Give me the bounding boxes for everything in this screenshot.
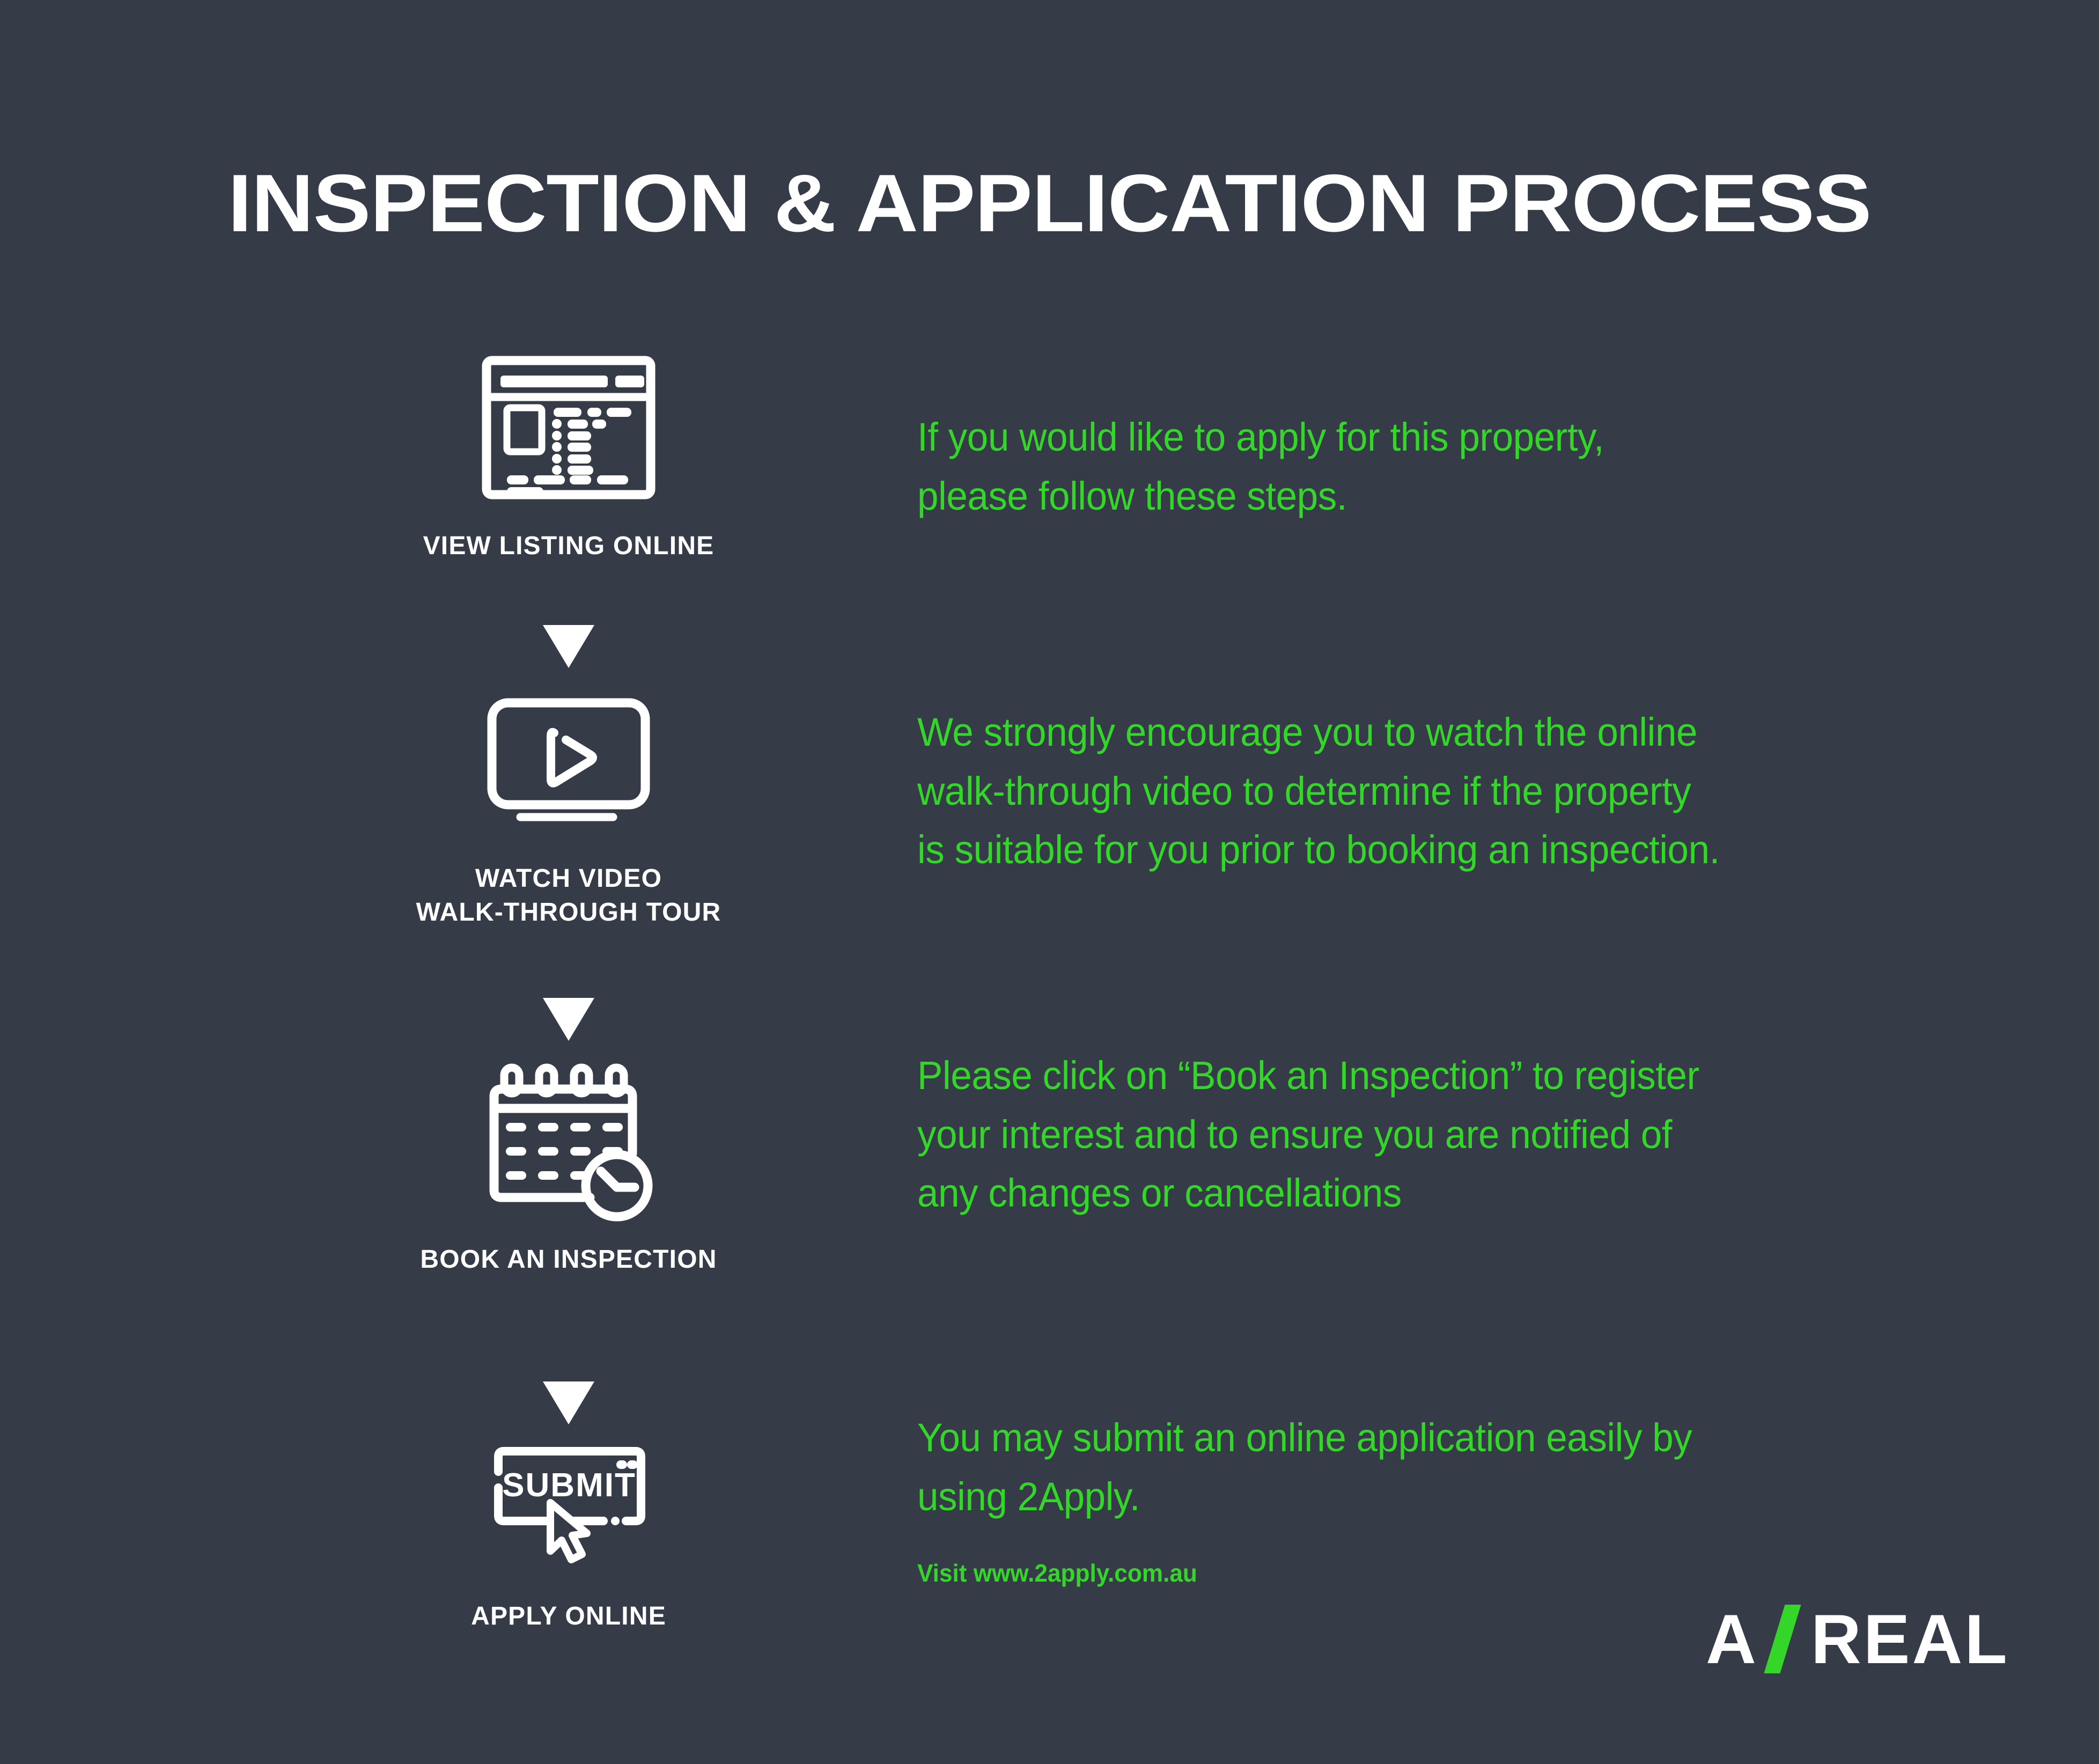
flow-step-label: VIEW LISTING ONLINE — [300, 529, 837, 563]
flow-connector-2 — [300, 998, 837, 1043]
calendar-clock-icon — [480, 1057, 657, 1229]
svg-text:SUBMIT: SUBMIT — [502, 1467, 636, 1504]
flow-step-book-inspection: BOOK AN INSPECTION — [300, 1057, 837, 1276]
infographic-page: INSPECTION & APPLICATION PROCESS — [0, 0, 2099, 1764]
flow-step-label: WATCH VIDEO WALK-THROUGH TOUR — [300, 862, 837, 930]
triangle-down-arrow-icon — [543, 1381, 594, 1424]
flow-connector-1 — [300, 625, 837, 671]
flow-step-watch-video: WATCH VIDEO WALK-THROUGH TOUR — [300, 687, 837, 930]
triangle-down-arrow-icon — [543, 998, 594, 1041]
visit-link[interactable]: Visit www.2apply.com.au — [917, 1559, 1197, 1587]
description-paragraph-3: Please click on “Book an Inspection” to … — [917, 1046, 1699, 1223]
video-play-icon — [480, 687, 657, 848]
flow-step-label: APPLY ONLINE — [300, 1599, 837, 1633]
browser-listing-icon — [480, 354, 657, 515]
flow-step-apply-online: SUBMIT APPLY ONLINE — [300, 1440, 837, 1633]
flow-step-view-listing: VIEW LISTING ONLINE — [300, 354, 837, 563]
logo-slash-icon — [1764, 1605, 1801, 1673]
brand-logo[interactable]: A REAL — [1706, 1601, 2009, 1677]
description-paragraph-1: If you would like to apply for this prop… — [917, 408, 1604, 525]
logo-letter-a: A — [1706, 1604, 1758, 1674]
logo-word-real: REAL — [1811, 1604, 2009, 1674]
page-title: INSPECTION & APPLICATION PROCESS — [0, 161, 2099, 247]
flow-step-label: BOOK AN INSPECTION — [300, 1243, 837, 1276]
submit-button-cursor-icon: SUBMIT — [480, 1440, 657, 1585]
triangle-down-arrow-icon — [543, 625, 594, 668]
flow-connector-3 — [300, 1381, 837, 1427]
description-paragraph-2: We strongly encourage you to watch the o… — [917, 703, 1720, 879]
description-paragraph-4: You may submit an online application eas… — [917, 1408, 1692, 1526]
